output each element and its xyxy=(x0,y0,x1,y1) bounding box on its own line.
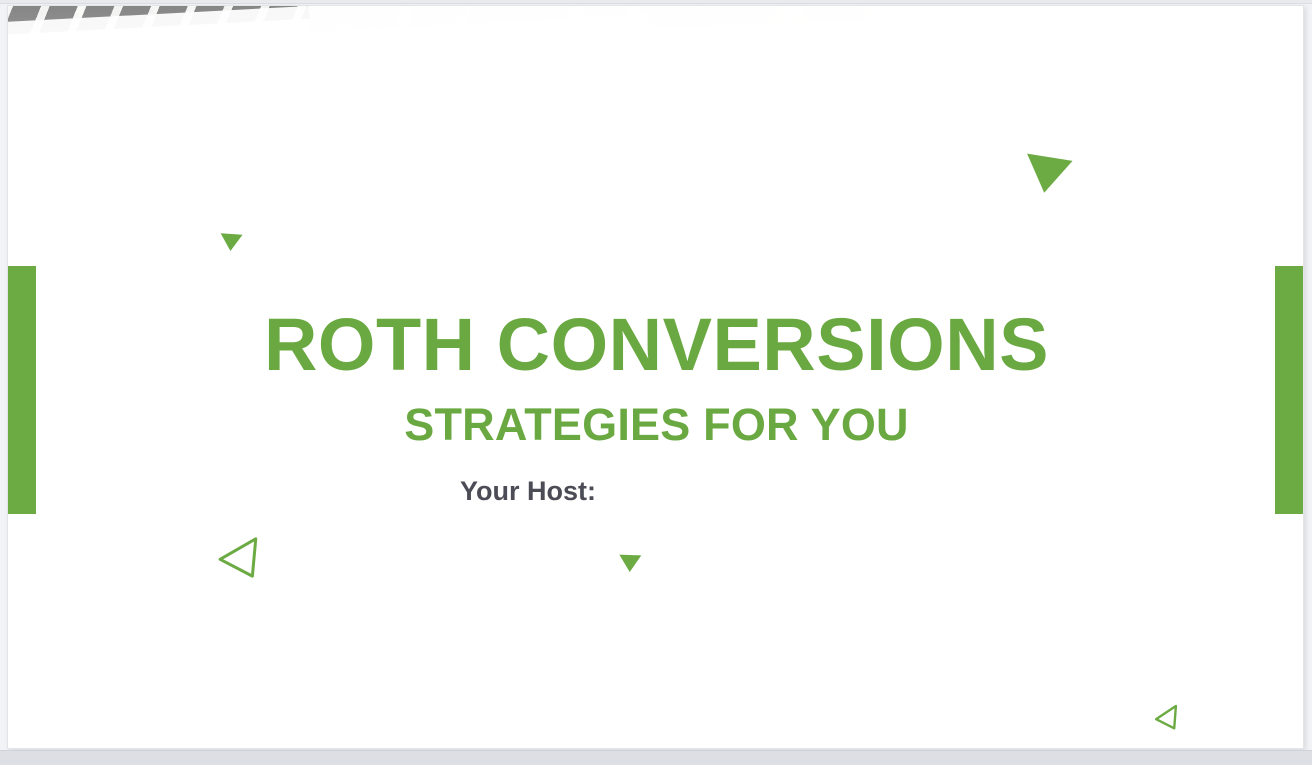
viewer-bottom-gutter xyxy=(0,750,1312,765)
triangle-left-outline-icon-large xyxy=(213,531,264,582)
triangle-down-icon-large xyxy=(1021,154,1072,197)
viewer-top-rail xyxy=(0,0,1312,4)
triangle-left-outline-icon-small xyxy=(1151,701,1184,734)
slide-viewer: ROTH CONVERSIONS STRATEGIES FOR YOU Your… xyxy=(0,0,1312,765)
host-label: Your Host: xyxy=(8,472,1048,510)
presentation-slide[interactable]: ROTH CONVERSIONS STRATEGIES FOR YOU Your… xyxy=(7,5,1304,749)
triangle-down-icon-small-center xyxy=(619,555,642,573)
slide-subtitle: STRATEGIES FOR YOU xyxy=(8,397,1304,453)
slide-title: ROTH CONVERSIONS xyxy=(8,302,1304,388)
triangle-down-icon-small-left xyxy=(219,233,242,251)
